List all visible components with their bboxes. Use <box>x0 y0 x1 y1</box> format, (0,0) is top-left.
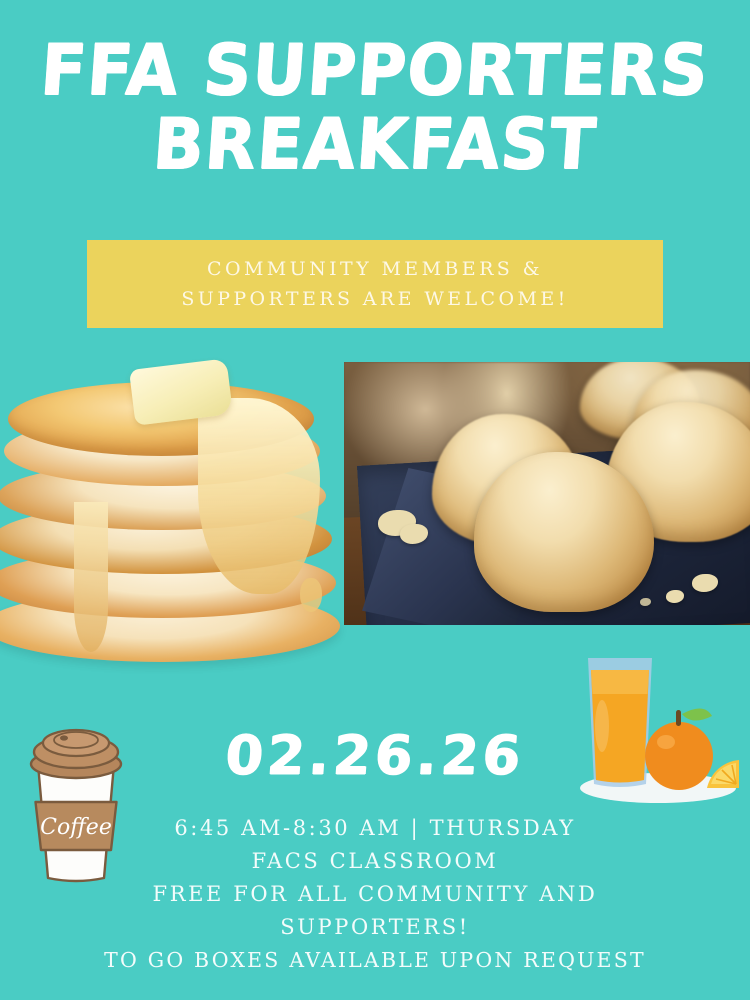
orange-leaf <box>682 708 712 720</box>
biscuits-photo <box>344 362 750 625</box>
detail-free-1: FREE FOR ALL COMMUNITY AND <box>0 878 750 911</box>
syrup-drizzle <box>74 502 108 652</box>
pancakes-photo <box>0 352 350 684</box>
detail-to-go-boxes: TO GO BOXES AVAILABLE UPON REQUEST <box>0 944 750 977</box>
juice-surface <box>591 670 649 694</box>
event-date: 02.26.26 <box>0 724 750 787</box>
detail-free-2: SUPPORTERS! <box>0 911 750 944</box>
syrup-drip <box>300 578 322 612</box>
welcome-banner: COMMUNITY MEMBERS & SUPPORTERS ARE WELCO… <box>87 240 663 328</box>
poster-canvas: FFA SUPPORTERS BREAKFAST COMMUNITY MEMBE… <box>0 0 750 1000</box>
event-details: 6:45 AM-8:30 AM | THURSDAY FACS CLASSROO… <box>0 812 750 977</box>
welcome-banner-line-1: COMMUNITY MEMBERS & <box>181 254 568 284</box>
title-line-1: FFA SUPPORTERS <box>0 32 750 110</box>
poster-title: FFA SUPPORTERS BREAKFAST <box>0 34 750 182</box>
detail-time-day: 6:45 AM-8:30 AM | THURSDAY <box>0 812 750 845</box>
welcome-banner-line-2: SUPPORTERS ARE WELCOME! <box>181 284 568 314</box>
welcome-banner-text: COMMUNITY MEMBERS & SUPPORTERS ARE WELCO… <box>181 254 568 314</box>
detail-location: FACS CLASSROOM <box>0 845 750 878</box>
syrup-pour <box>198 398 320 594</box>
title-line-2: BREAKFAST <box>0 106 750 184</box>
